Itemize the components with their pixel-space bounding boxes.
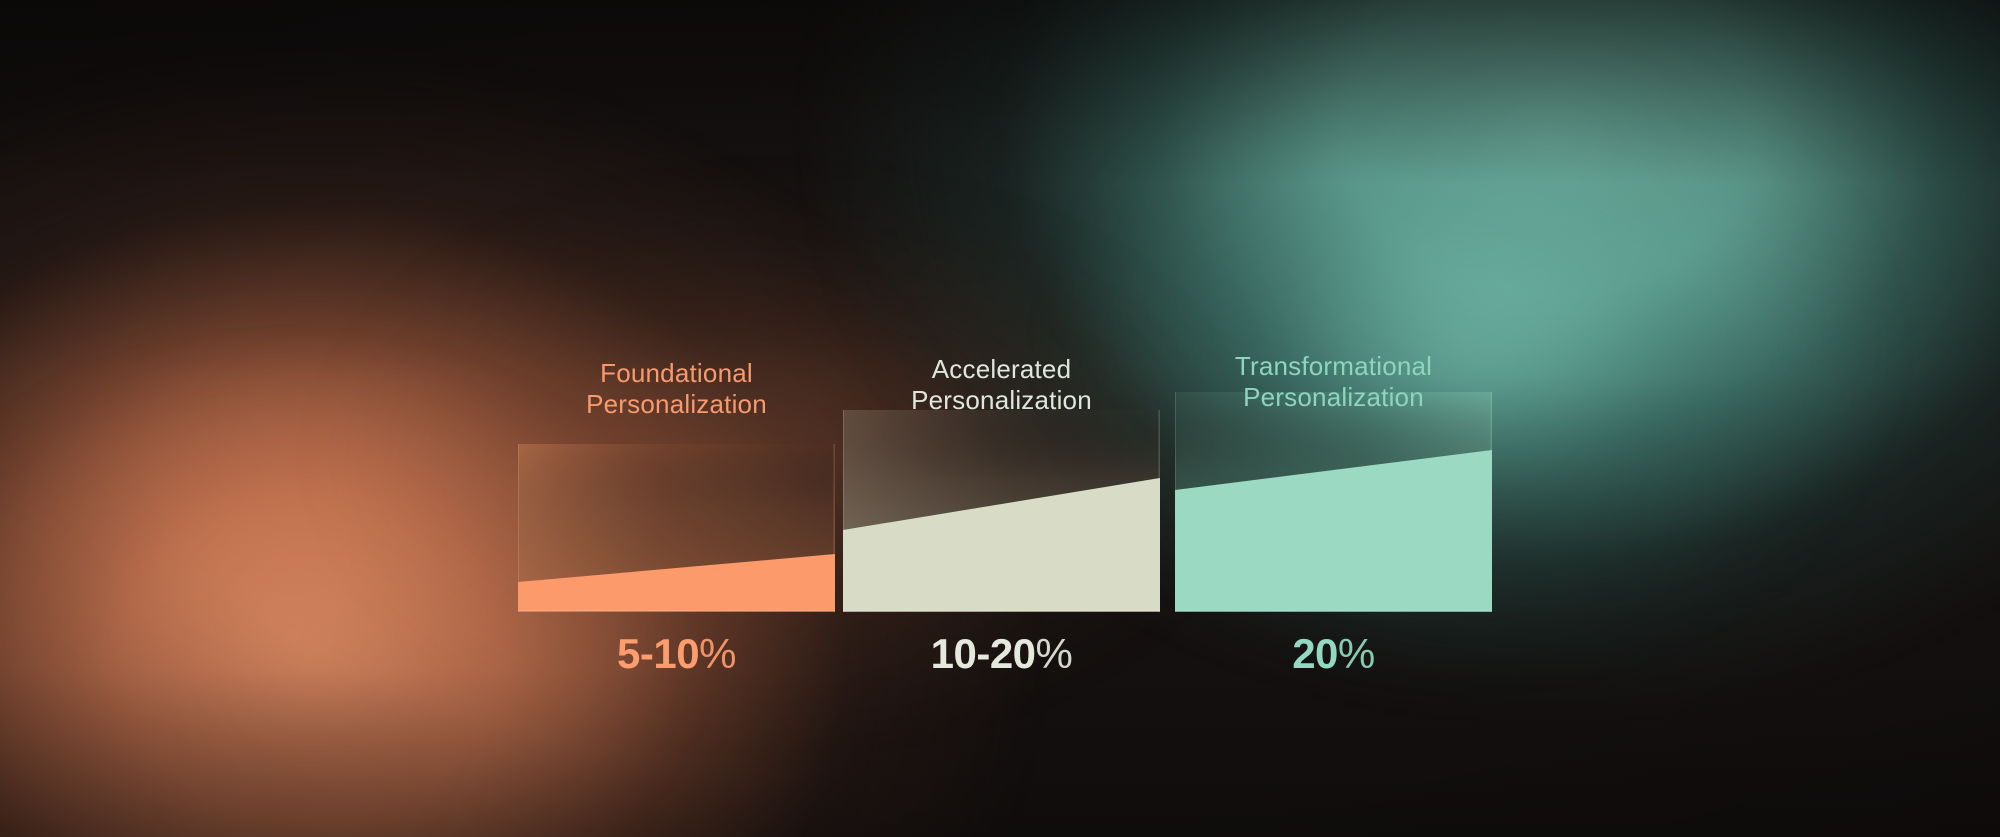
column-wedge-transformational bbox=[1175, 392, 1492, 612]
chart-column-accelerated[interactable]: Accelerated Personalization bbox=[843, 352, 1160, 612]
personalization-maturity-chart: Foundational Personalization bbox=[518, 352, 1496, 684]
column-value-foundational: 5-10% bbox=[518, 630, 835, 678]
value-number-accelerated: 10-20 bbox=[931, 630, 1036, 677]
value-number-foundational: 5-10 bbox=[617, 630, 699, 677]
slide-canvas: Foundational Personalization bbox=[0, 0, 2000, 837]
wedge-svg-foundational bbox=[518, 444, 835, 612]
chart-column-foundational[interactable]: Foundational Personalization bbox=[518, 352, 835, 612]
column-title-accelerated: Accelerated Personalization bbox=[843, 354, 1160, 415]
column-value-transformational: 20% bbox=[1175, 630, 1492, 678]
percent-sign-transformational: % bbox=[1338, 630, 1375, 677]
wedge-svg-accelerated bbox=[843, 410, 1160, 612]
column-wedge-accelerated bbox=[843, 410, 1160, 612]
chart-column-transformational[interactable]: Transformational Personalization bbox=[1175, 352, 1492, 612]
value-number-transformational: 20 bbox=[1292, 630, 1338, 677]
wedge-svg-transformational bbox=[1175, 392, 1492, 612]
percent-sign-foundational: % bbox=[699, 630, 736, 677]
column-value-accelerated: 10-20% bbox=[843, 630, 1160, 678]
column-title-foundational: Foundational Personalization bbox=[518, 358, 835, 419]
column-wedge-foundational bbox=[518, 444, 835, 612]
percent-sign-accelerated: % bbox=[1036, 630, 1073, 677]
